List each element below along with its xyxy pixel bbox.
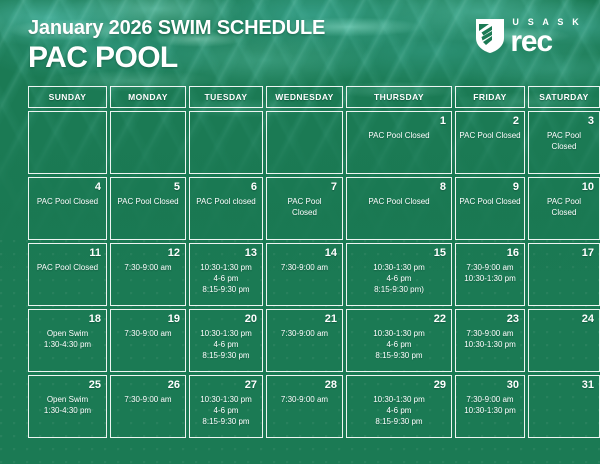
logo-wordmark: U S A S K rec	[510, 18, 582, 55]
calendar-day-cell: 9PAC Pool Closed	[455, 177, 525, 240]
event-line: PAC Pool	[547, 196, 581, 207]
day-number: 3	[588, 115, 594, 127]
page-title: January 2026 SWIM SCHEDULE PAC POOL	[28, 16, 325, 75]
day-events: PAC Pool Closed	[461, 127, 519, 169]
day-events: PAC Pool Closed	[352, 127, 446, 169]
calendar-day-cell: 267:30-9:00 am	[110, 375, 186, 438]
day-events: 10:30-1:30 pm4-6 pm8:15-9:30 pm	[195, 391, 257, 433]
calendar-grid: SUNDAYMONDAYTUESDAYWEDNESDAYTHURSDAYFRID…	[28, 86, 582, 438]
day-events: 10:30-1:30 pm4-6 pm8:15-9:30 pm	[195, 325, 257, 367]
calendar-day-cell: 147:30-9:00 am	[266, 243, 343, 306]
event-line: 8:15-9:30 pm	[375, 350, 422, 361]
event-line: PAC Pool Closed	[459, 130, 520, 141]
event-line: 4-6 pm	[214, 405, 239, 416]
event-line: Open Swim	[47, 394, 88, 405]
event-line: Closed	[552, 141, 577, 152]
day-number: 20	[245, 313, 257, 325]
event-line: 10:30-1:30 pm	[373, 262, 425, 273]
event-line: 1:30-4:30 pm	[44, 339, 91, 350]
day-number: 24	[582, 313, 594, 325]
day-number: 7	[331, 181, 337, 193]
calendar-day-cell: 217:30-9:00 am	[266, 309, 343, 372]
calendar-day-cell: 31	[528, 375, 600, 438]
event-line: PAC Pool Closed	[117, 196, 178, 207]
day-events: 10:30-1:30 pm4-6 pm8:15-9:30 pm	[195, 259, 257, 301]
day-events: 7:30-9:00 am	[116, 391, 180, 433]
day-number: 1	[440, 115, 446, 127]
day-number: 28	[325, 379, 337, 391]
day-events	[534, 259, 594, 301]
calendar-cell-empty	[266, 111, 343, 174]
day-events: 7:30-9:00 am	[272, 325, 337, 367]
day-number: 30	[507, 379, 519, 391]
day-events: PAC PoolClosed	[534, 127, 594, 169]
event-line: 10:30-1:30 pm	[200, 328, 252, 339]
day-number: 8	[440, 181, 446, 193]
day-events: 7:30-9:00 am10:30-1:30 pm	[461, 391, 519, 433]
event-line: PAC Pool Closed	[37, 262, 98, 273]
day-number: 11	[89, 247, 101, 259]
event-line: 10:30-1:30 pm	[464, 405, 516, 416]
event-line: 10:30-1:30 pm	[464, 273, 516, 284]
calendar-day-cell: 197:30-9:00 am	[110, 309, 186, 372]
day-header-friday: FRIDAY	[455, 86, 525, 108]
day-events: 10:30-1:30 pm4-6 pm8:15-9:30 pm)	[352, 259, 446, 301]
day-events	[34, 115, 101, 169]
event-line: 8:15-9:30 pm	[202, 416, 249, 427]
calendar-day-cell: 167:30-9:00 am10:30-1:30 pm	[455, 243, 525, 306]
event-line: 8:15-9:30 pm	[202, 284, 249, 295]
day-header-sunday: SUNDAY	[28, 86, 107, 108]
day-header-wednesday: WEDNESDAY	[266, 86, 343, 108]
day-number: 29	[434, 379, 446, 391]
swim-schedule-poster: January 2026 SWIM SCHEDULE PAC POOL U S …	[0, 0, 600, 464]
day-events: 7:30-9:00 am10:30-1:30 pm	[461, 325, 519, 367]
day-number: 12	[168, 247, 180, 259]
calendar-day-cell: 1310:30-1:30 pm4-6 pm8:15-9:30 pm	[189, 243, 263, 306]
event-line: 8:15-9:30 pm)	[374, 284, 424, 295]
event-line: 7:30-9:00 am	[466, 262, 513, 273]
day-events	[116, 115, 180, 169]
day-events: PAC Pool Closed	[34, 193, 101, 235]
event-line: 4-6 pm	[387, 339, 412, 350]
event-line: 4-6 pm	[387, 405, 412, 416]
calendar-day-cell: 2010:30-1:30 pm4-6 pm8:15-9:30 pm	[189, 309, 263, 372]
day-number: 15	[434, 247, 446, 259]
day-number: 22	[434, 313, 446, 325]
day-number: 23	[507, 313, 519, 325]
day-events	[534, 325, 594, 367]
day-header-monday: MONDAY	[110, 86, 186, 108]
day-events: 7:30-9:00 am	[272, 259, 337, 301]
event-line: 4-6 pm	[214, 273, 239, 284]
calendar-cell-empty	[110, 111, 186, 174]
calendar-day-cell: 1PAC Pool Closed	[346, 111, 452, 174]
event-line: 10:30-1:30 pm	[200, 394, 252, 405]
day-events: 10:30-1:30 pm4-6 pm8:15-9:30 pm	[352, 391, 446, 433]
event-line: Closed	[552, 207, 577, 218]
calendar-cell-empty	[189, 111, 263, 174]
event-line: PAC Pool closed	[196, 196, 255, 207]
calendar-day-cell: 3PAC PoolClosed	[528, 111, 600, 174]
calendar-day-cell: 25Open Swim1:30-4:30 pm	[28, 375, 107, 438]
day-number: 26	[168, 379, 180, 391]
day-number: 5	[174, 181, 180, 193]
logo-rec-text: rec	[510, 28, 582, 55]
calendar-day-cell: 127:30-9:00 am	[110, 243, 186, 306]
day-number: 4	[95, 181, 101, 193]
event-line: 7:30-9:00 am	[124, 262, 171, 273]
event-line: PAC Pool	[547, 130, 581, 141]
day-events: Open Swim1:30-4:30 pm	[34, 325, 101, 367]
calendar-day-cell: 1510:30-1:30 pm4-6 pm8:15-9:30 pm)	[346, 243, 452, 306]
day-events: PAC PoolClosed	[272, 193, 337, 235]
day-events: 7:30-9:00 am	[272, 391, 337, 433]
event-line: Closed	[292, 207, 317, 218]
event-line: 7:30-9:00 am	[466, 394, 513, 405]
day-number: 13	[245, 247, 257, 259]
calendar-day-cell: 237:30-9:00 am10:30-1:30 pm	[455, 309, 525, 372]
event-line: PAC Pool Closed	[37, 196, 98, 207]
day-events: PAC Pool Closed	[352, 193, 446, 235]
event-line: 10:30-1:30 pm	[464, 339, 516, 350]
poster-header: January 2026 SWIM SCHEDULE PAC POOL U S …	[0, 0, 600, 86]
day-number: 19	[168, 313, 180, 325]
day-number: 17	[582, 247, 594, 259]
calendar-day-cell: 6PAC Pool closed	[189, 177, 263, 240]
event-line: 10:30-1:30 pm	[373, 394, 425, 405]
calendar-day-cell: 2210:30-1:30 pm4-6 pm8:15-9:30 pm	[346, 309, 452, 372]
calendar-day-cell: 2710:30-1:30 pm4-6 pm8:15-9:30 pm	[189, 375, 263, 438]
schedule-month-title: January 2026 SWIM SCHEDULE	[28, 16, 325, 40]
event-line: 4-6 pm	[387, 273, 412, 284]
event-line: 8:15-9:30 pm	[375, 416, 422, 427]
event-line: 7:30-9:00 am	[281, 394, 328, 405]
calendar-cell-empty	[28, 111, 107, 174]
day-number: 25	[89, 379, 101, 391]
event-line: PAC Pool Closed	[459, 196, 520, 207]
day-events: 7:30-9:00 am	[116, 325, 180, 367]
event-line: 7:30-9:00 am	[124, 394, 171, 405]
event-line: 8:15-9:30 pm	[202, 350, 249, 361]
event-line: Open Swim	[47, 328, 88, 339]
event-line: 4-6 pm	[214, 339, 239, 350]
day-header-saturday: SATURDAY	[528, 86, 600, 108]
event-line: 7:30-9:00 am	[466, 328, 513, 339]
event-line: 10:30-1:30 pm	[200, 262, 252, 273]
day-events: Open Swim1:30-4:30 pm	[34, 391, 101, 433]
facility-name-title: PAC POOL	[28, 41, 325, 75]
day-events	[195, 115, 257, 169]
usask-shield-icon	[475, 18, 505, 54]
day-events: PAC Pool Closed	[461, 193, 519, 235]
day-number: 16	[507, 247, 519, 259]
day-events: PAC PoolClosed	[534, 193, 594, 235]
day-events: PAC Pool Closed	[34, 259, 101, 301]
calendar-day-cell: 4PAC Pool Closed	[28, 177, 107, 240]
day-number: 21	[325, 313, 337, 325]
event-line: 10:30-1:30 pm	[373, 328, 425, 339]
calendar-day-cell: 24	[528, 309, 600, 372]
calendar-day-cell: 17	[528, 243, 600, 306]
event-line: PAC Pool Closed	[368, 130, 429, 141]
day-events: PAC Pool closed	[195, 193, 257, 235]
event-line: 1:30-4:30 pm	[44, 405, 91, 416]
calendar-day-cell: 7PAC PoolClosed	[266, 177, 343, 240]
day-events: 10:30-1:30 pm4-6 pm8:15-9:30 pm	[352, 325, 446, 367]
day-number: 31	[582, 379, 594, 391]
day-events: 7:30-9:00 am10:30-1:30 pm	[461, 259, 519, 301]
calendar-day-cell: 11PAC Pool Closed	[28, 243, 107, 306]
event-line: PAC Pool	[287, 196, 321, 207]
day-events: 7:30-9:00 am	[116, 259, 180, 301]
day-number: 9	[513, 181, 519, 193]
day-number: 6	[251, 181, 257, 193]
day-events	[534, 391, 594, 433]
event-line: 7:30-9:00 am	[281, 328, 328, 339]
day-number: 14	[325, 247, 337, 259]
event-line: 7:30-9:00 am	[281, 262, 328, 273]
day-number: 27	[245, 379, 257, 391]
calendar-day-cell: 2PAC Pool Closed	[455, 111, 525, 174]
calendar-day-cell: 2910:30-1:30 pm4-6 pm8:15-9:30 pm	[346, 375, 452, 438]
day-number: 18	[89, 313, 101, 325]
day-number: 10	[582, 181, 594, 193]
calendar-day-cell: 5PAC Pool Closed	[110, 177, 186, 240]
day-header-tuesday: TUESDAY	[189, 86, 263, 108]
event-line: 7:30-9:00 am	[124, 328, 171, 339]
day-header-thursday: THURSDAY	[346, 86, 452, 108]
calendar-day-cell: 10PAC PoolClosed	[528, 177, 600, 240]
calendar-day-cell: 287:30-9:00 am	[266, 375, 343, 438]
usask-rec-logo: U S A S K rec	[475, 14, 582, 58]
day-events: PAC Pool Closed	[116, 193, 180, 235]
calendar-day-cell: 18Open Swim1:30-4:30 pm	[28, 309, 107, 372]
calendar-day-cell: 8PAC Pool Closed	[346, 177, 452, 240]
calendar-day-cell: 307:30-9:00 am10:30-1:30 pm	[455, 375, 525, 438]
event-line: PAC Pool Closed	[368, 196, 429, 207]
day-events	[272, 115, 337, 169]
day-number: 2	[513, 115, 519, 127]
